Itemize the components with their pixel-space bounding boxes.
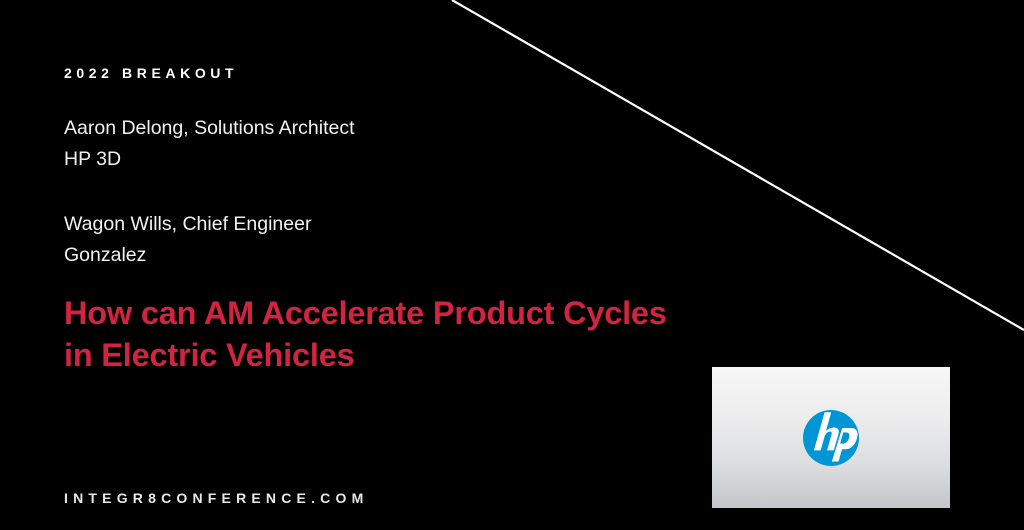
hp-logo-icon — [803, 410, 859, 466]
speaker-2-name-title: Wagon Wills, Chief Engineer — [64, 209, 311, 240]
session-title-line-2: in Electric Vehicles — [64, 334, 667, 376]
conference-url: INTEGR8CONFERENCE.COM — [64, 491, 368, 505]
speaker-1-name-title: Aaron Delong, Solutions Architect — [64, 113, 355, 144]
speaker-2-company: Gonzalez — [64, 240, 311, 271]
session-title: How can AM Accelerate Product Cycles in … — [64, 292, 667, 376]
hp-logo-card — [712, 367, 950, 508]
presentation-slide: 2022 BREAKOUT Aaron Delong, Solutions Ar… — [0, 0, 1024, 530]
session-title-line-1: How can AM Accelerate Product Cycles — [64, 292, 667, 334]
speaker-1: Aaron Delong, Solutions Architect HP 3D — [64, 113, 355, 175]
speaker-2: Wagon Wills, Chief Engineer Gonzalez — [64, 209, 311, 271]
kicker-label: 2022 BREAKOUT — [64, 66, 238, 80]
speaker-1-company: HP 3D — [64, 144, 355, 175]
